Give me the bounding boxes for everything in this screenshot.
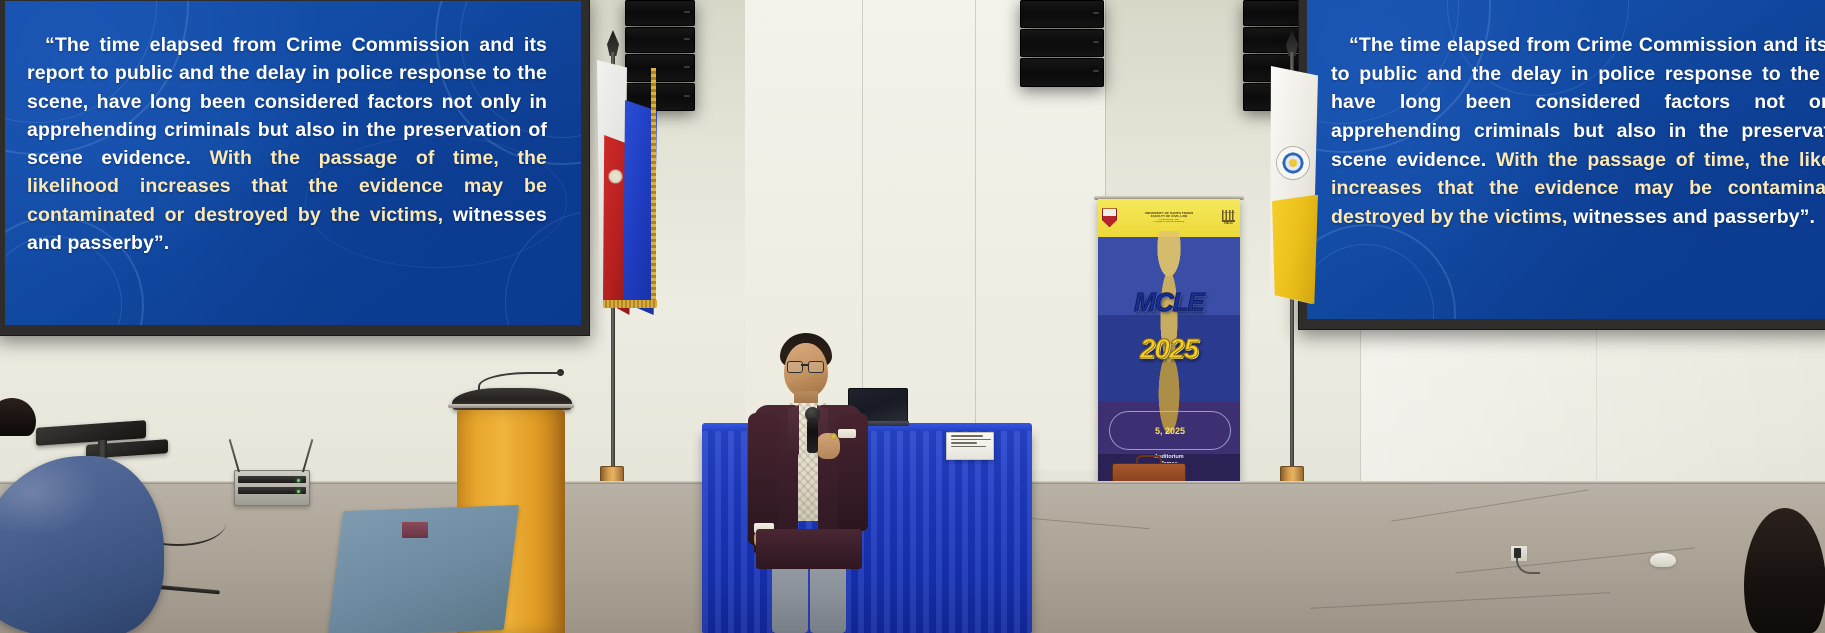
presenter-jacket-hem	[756, 529, 862, 569]
decorative-arc	[1307, 224, 1456, 319]
handheld-microphone[interactable]	[807, 417, 818, 453]
temple-icon	[1222, 210, 1235, 222]
lapel-pin	[830, 433, 837, 440]
ceiling-speaker-array-right	[1020, 0, 1104, 88]
presenter-cuff-right	[838, 429, 856, 438]
eyeglasses-right-lens	[808, 361, 824, 373]
banner-org-line4: Philippine Judicial Academy	[1120, 221, 1218, 224]
right-screen-surface: “The time elapsed from Crime Commission …	[1307, 0, 1825, 319]
university-crest-icon	[1102, 208, 1117, 227]
banner-venue-line1: Auditorium	[1098, 454, 1240, 461]
left-projection-screen[interactable]: “The time elapsed from Crime Commission …	[0, 0, 590, 336]
banner-org-text: UNIVERSITY OF SANTO TOMAS FACULTY OF CIV…	[1120, 212, 1218, 224]
covered-equipment	[0, 456, 164, 633]
lecture-hall-scene: “The time elapsed from Crime Commission …	[0, 0, 1825, 633]
decorative-arc	[1307, 244, 1434, 319]
left-screen-quote: “The time elapsed from Crime Commission …	[27, 31, 547, 257]
floor-puck	[1650, 553, 1676, 567]
lectern-lip	[448, 404, 574, 408]
eyeglasses-left-lens	[787, 361, 803, 373]
presenter	[742, 333, 882, 633]
banner-year: 2025	[1098, 335, 1240, 363]
table-name-card	[946, 432, 994, 460]
philja-logo-icon: PHILJA	[1221, 210, 1236, 225]
left-screen-surface: “The time elapsed from Crime Commission …	[5, 1, 581, 325]
wireless-receiver[interactable]	[234, 470, 310, 506]
right-projection-screen[interactable]: “The time elapsed from Crime Commission …	[1298, 0, 1825, 330]
banner-date-pill: 5, 2025	[1109, 411, 1230, 451]
quote-tail-b: witnesses and passerby”.	[1568, 206, 1815, 228]
flag-sun-emblem	[609, 170, 622, 183]
banner-title: MCLE	[1098, 289, 1240, 315]
banner-date-text: 5, 2025	[1155, 426, 1185, 436]
banner-partner-label: PHILJA	[1221, 222, 1236, 225]
right-screen-quote: “The time elapsed from Crime Commission …	[1331, 31, 1825, 232]
eyeglasses-bridge	[801, 364, 808, 366]
mcle-2025-banner[interactable]: UNIVERSITY OF SANTO TOMAS FACULTY OF CIV…	[1098, 199, 1240, 489]
foreground-panel-mark	[402, 522, 428, 538]
university-seal	[1277, 147, 1309, 179]
wall-seam	[975, 0, 976, 470]
